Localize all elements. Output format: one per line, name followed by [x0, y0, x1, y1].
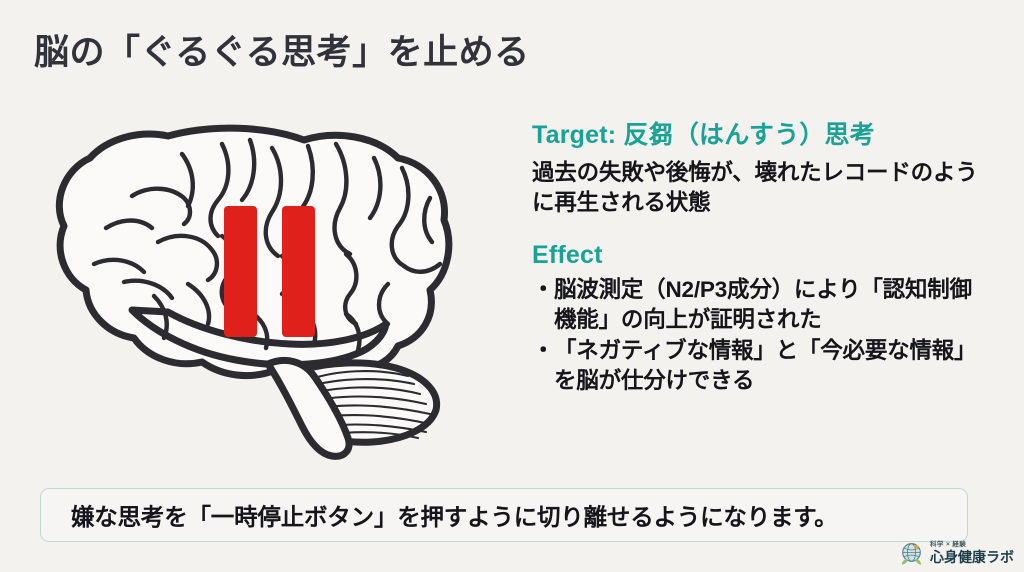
pause-icon	[224, 206, 318, 337]
logo-brand-name: 心身健康ラボ	[930, 550, 1014, 564]
logo-text: 科学 × 経験 心身健康ラボ	[930, 542, 1014, 564]
pause-bar-left	[224, 206, 257, 337]
logo-tagline: 科学 × 経験	[930, 542, 1014, 549]
brand-logo: 科学 × 経験 心身健康ラボ	[898, 539, 1014, 566]
list-item: ・ 脳波測定（N2/P3成分）により「認知制御機能」の向上が証明された	[532, 275, 994, 335]
page-title: 脳の「ぐるぐる思考」を止める	[34, 24, 530, 75]
callout-text: 嫌な思考を「一時停止ボタン」を押すように切り離せるようになります。	[71, 498, 838, 532]
target-description: 過去の失敗や後悔が、壊れたレコードのように再生される状態	[532, 158, 994, 218]
bullet-marker: ・	[532, 275, 554, 305]
globe-icon	[898, 539, 925, 566]
effect-heading: Effect	[532, 240, 994, 270]
bullet-text: 「ネガティブな情報」と「今必要な情報」を脳が仕分けできる	[554, 336, 994, 396]
list-item: ・ 「ネガティブな情報」と「今必要な情報」を脳が仕分けできる	[532, 336, 994, 396]
slide-root: 脳の「ぐるぐる思考」を止める	[0, 0, 1024, 572]
content-column: Target: 反芻（はんすう）思考 過去の失敗や後悔が、壊れたレコードのように…	[532, 120, 994, 397]
target-heading: Target: 反芻（はんすう）思考	[532, 120, 994, 150]
effect-bullet-list: ・ 脳波測定（N2/P3成分）により「認知制御機能」の向上が証明された ・ 「ネ…	[532, 275, 994, 396]
summary-callout: 嫌な思考を「一時停止ボタン」を押すように切り離せるようになります。	[40, 488, 968, 542]
pause-bar-right	[282, 206, 315, 337]
bullet-marker: ・	[532, 336, 554, 366]
bullet-text: 脳波測定（N2/P3成分）により「認知制御機能」の向上が証明された	[554, 275, 994, 335]
